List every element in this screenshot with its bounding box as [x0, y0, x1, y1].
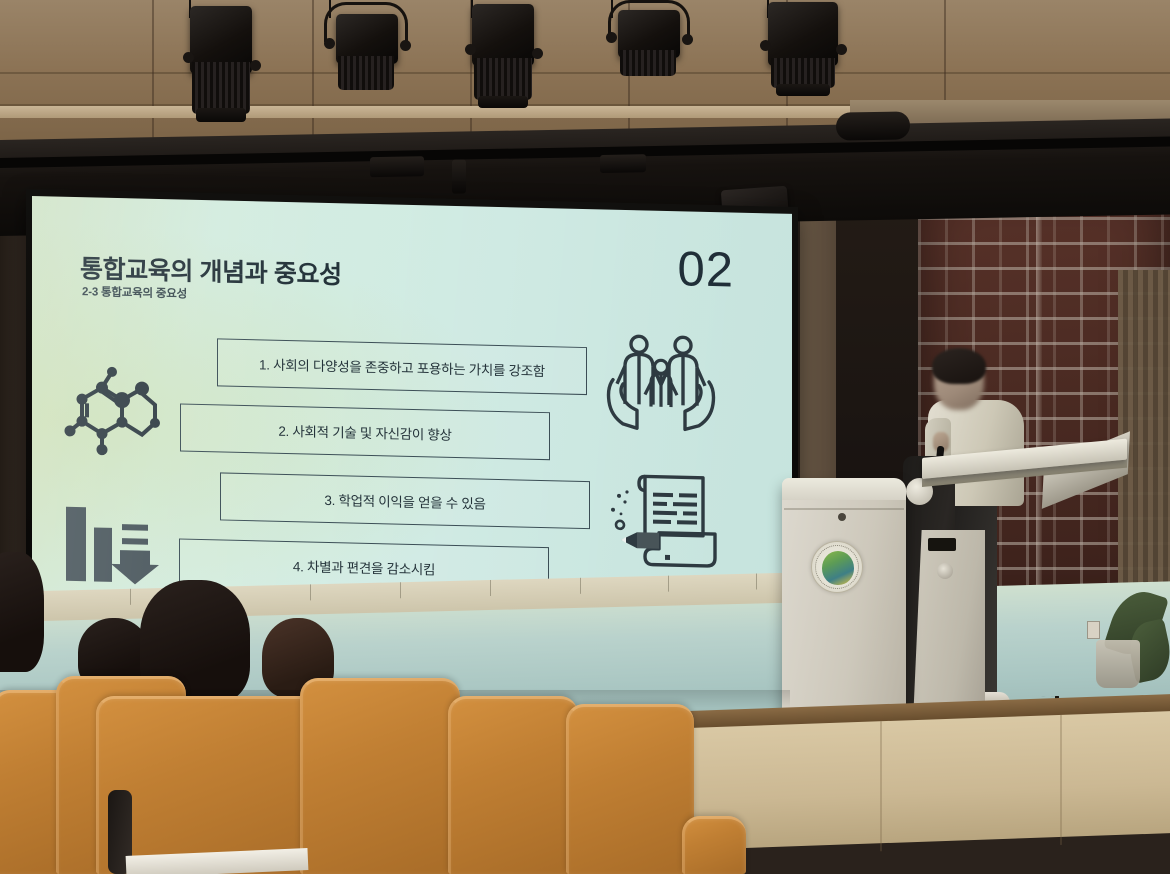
podium-pedestal — [913, 530, 985, 722]
bullet-text: 2. 사회적 기술 및 자신감이 향상 — [278, 420, 451, 444]
decreasing-bar-chart-icon — [60, 497, 160, 591]
auditorium-seat[interactable] — [448, 696, 578, 874]
bullet-text: 3. 학업적 이익을 얻을 수 있음 — [324, 489, 485, 513]
podium-knob[interactable] — [937, 563, 953, 579]
molecule-icon — [60, 359, 160, 461]
family-in-hands-icon — [605, 332, 717, 435]
bullet-box: 2. 사회적 기술 및 자신감이 향상 — [180, 403, 550, 460]
slide-subtitle: 2-3 통합교육의 중요성 — [82, 283, 187, 301]
audience-head — [0, 552, 44, 672]
auditorium-seat[interactable] — [300, 678, 460, 874]
document-pencil-icon — [607, 470, 725, 573]
podium-seam — [784, 508, 904, 510]
podium-lock[interactable] — [838, 513, 846, 521]
presenter-hair — [932, 348, 986, 384]
lecture-hall-scene: 통합교육의 개념과 중요성 2-3 통합교육의 중요성 02 1. 사회의 다양… — [0, 0, 1170, 874]
auditorium-seat[interactable] — [566, 704, 694, 874]
plant-pot — [1096, 640, 1140, 688]
bullet-text: 1. 사회의 다양성을 존중하고 포용하는 가치를 강조함 — [259, 353, 545, 380]
bullet-box: 3. 학업적 이익을 얻을 수 있음 — [220, 472, 590, 529]
slide-section-number: 02 — [677, 245, 734, 295]
brick-corner-edge — [1036, 176, 1042, 620]
podium-top-edge — [782, 478, 906, 500]
podium-control-panel[interactable] — [928, 538, 956, 551]
university-seal — [811, 541, 863, 593]
bullet-text: 4. 차별과 편견을 감소시킴 — [293, 555, 435, 578]
bullet-box: 1. 사회의 다양성을 존중하고 포용하는 가치를 강조함 — [217, 338, 587, 395]
auditorium-seat[interactable] — [682, 816, 746, 874]
wall-outlet — [1087, 621, 1100, 639]
